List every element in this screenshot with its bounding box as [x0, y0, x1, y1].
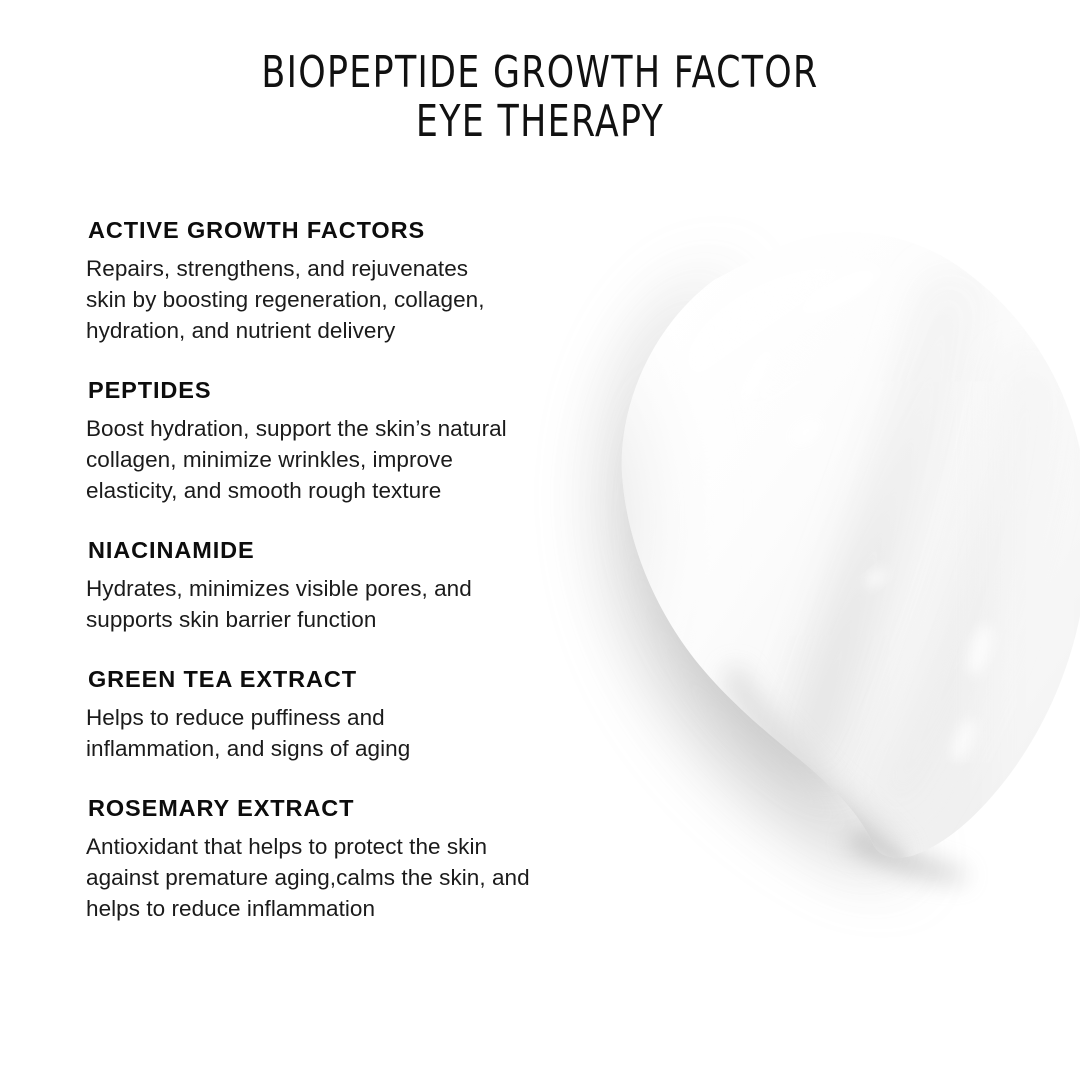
- fold-ridge-right: [868, 360, 1052, 820]
- highlight-spec-1: [794, 261, 883, 324]
- ingredient-heading: ROSEMARY EXTRACT: [88, 794, 646, 822]
- product-ingredient-infographic: BIOPEPTIDE GROWTH FACTOR EYE THERAPY ACT…: [0, 0, 1080, 1080]
- swatch-cast-shadow: [609, 276, 968, 880]
- product-title-line-2: EYE THERAPY: [65, 97, 1015, 146]
- ingredient-description: Helps to reduce puffiness and inflammati…: [86, 702, 646, 764]
- highlight-top-sheen: [652, 220, 940, 439]
- highlight-spec-3: [788, 416, 823, 448]
- highlight-spec-2: [732, 342, 780, 410]
- ingredient-list: ACTIVE GROWTH FACTORS Repairs, strengthe…: [86, 216, 646, 924]
- product-title-line-1: BIOPEPTIDE GROWTH FACTOR: [65, 48, 1015, 97]
- fold-ridge-main: [776, 276, 996, 780]
- ingredient-heading: NIACINAMIDE: [88, 536, 646, 564]
- ingredient-description: Boost hydration, support the skin’s natu…: [86, 413, 646, 506]
- shade-bottom-tip: [725, 666, 910, 858]
- ingredient-heading: PEPTIDES: [88, 376, 646, 404]
- ingredient-description: Hydrates, minimizes visible pores, and s…: [86, 573, 646, 635]
- ingredient-item-peptides: PEPTIDES Boost hydration, support the sk…: [86, 376, 646, 506]
- ingredient-description: Repairs, strengthens, and rejuvenates sk…: [86, 253, 646, 346]
- highlight-spec-6: [947, 716, 980, 764]
- cream-silhouette: [622, 233, 1080, 858]
- highlight-right-edge: [990, 180, 1080, 880]
- ingredient-item-green-tea-extract: GREEN TEA EXTRACT Helps to reduce puffin…: [86, 665, 646, 764]
- shade-under-curl: [784, 770, 910, 866]
- ingredient-item-active-growth-factors: ACTIVE GROWTH FACTORS Repairs, strengthe…: [86, 216, 646, 346]
- ingredient-item-niacinamide: NIACINAMIDE Hydrates, minimizes visible …: [86, 536, 646, 635]
- ingredient-item-rosemary-extract: ROSEMARY EXTRACT Antioxidant that helps …: [86, 794, 646, 924]
- shadow-left-core: [641, 380, 847, 781]
- page-title: BIOPEPTIDE GROWTH FACTOR EYE THERAPY: [0, 48, 1080, 146]
- ingredient-heading: GREEN TEA EXTRACT: [88, 665, 646, 693]
- highlight-spec-5: [963, 622, 997, 677]
- shadow-left-soft: [609, 276, 906, 869]
- ingredient-description: Antioxidant that helps to protect the sk…: [86, 831, 646, 924]
- shadow-tail: [846, 828, 967, 880]
- ingredient-heading: ACTIVE GROWTH FACTORS: [88, 216, 646, 244]
- highlight-spec-4: [863, 566, 889, 591]
